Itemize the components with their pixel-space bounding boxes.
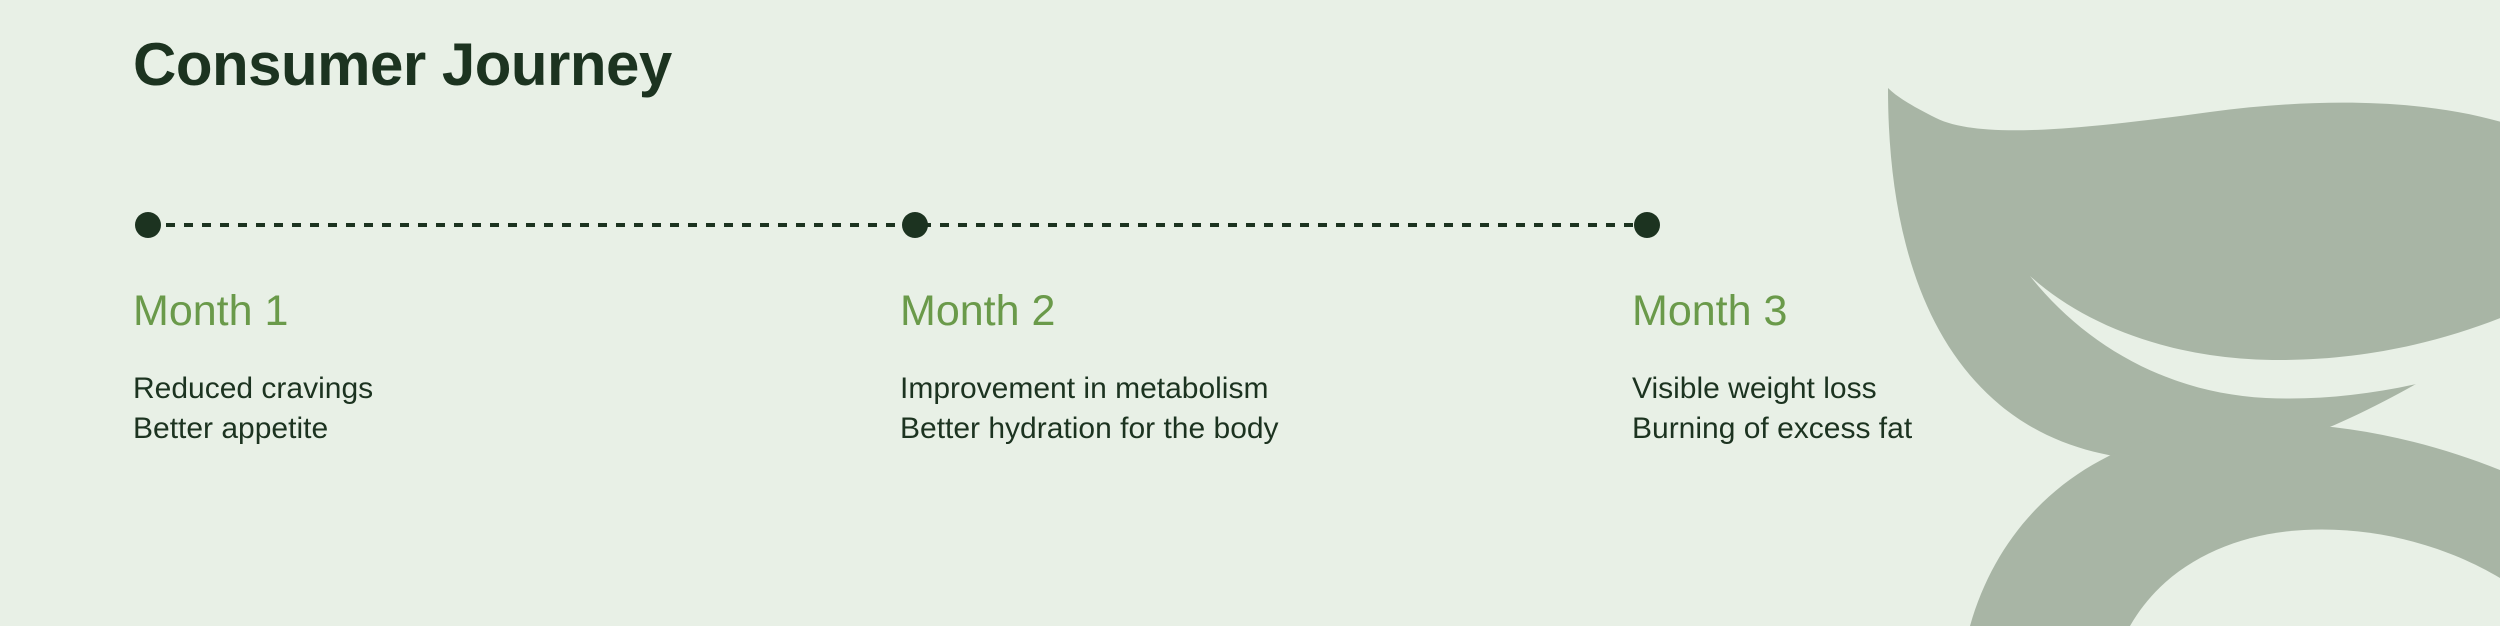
milestone-heading: Month 1 (133, 290, 373, 333)
milestone-benefit-list: Improvement in metabolism Better hydrati… (900, 369, 1279, 448)
milestone-column-month-1: Month 1 Reduced cravings Better appetite (133, 290, 373, 448)
milestone-heading: Month 3 (1632, 290, 1912, 333)
milestone-benefit-item: Visible weight loss (1632, 369, 1912, 409)
milestone-benefit-item: Improvement in metabolism (900, 369, 1279, 409)
leaf-decoration-group (1880, 0, 2500, 626)
milestone-benefit-list: Visible weight loss Burning of excess fa… (1632, 369, 1912, 448)
milestone-benefit-item: Reduced cravings (133, 369, 373, 409)
leaf-upper-icon (1888, 88, 2500, 461)
leaf-lower-icon (1970, 423, 2500, 626)
consumer-journey-infographic: Consumer Journey Month 1 Reduced craving… (0, 0, 2500, 626)
milestone-benefit-item: Better hydration for the body (900, 409, 1279, 449)
milestone-heading: Month 2 (900, 290, 1279, 333)
timeline-node-month-1[interactable] (135, 212, 161, 238)
milestone-benefit-item: Better appetite (133, 409, 373, 449)
milestone-column-month-3: Month 3 Visible weight loss Burning of e… (1632, 290, 1912, 448)
milestone-benefit-list: Reduced cravings Better appetite (133, 369, 373, 448)
page-title: Consumer Journey (133, 32, 672, 98)
timeline-node-month-2[interactable] (902, 212, 928, 238)
milestone-column-month-2: Month 2 Improvement in metabolism Better… (900, 290, 1279, 448)
timeline-node-month-3[interactable] (1634, 212, 1660, 238)
timeline-dashed-rail (148, 223, 1647, 227)
milestone-benefit-item: Burning of excess fat (1632, 409, 1912, 449)
